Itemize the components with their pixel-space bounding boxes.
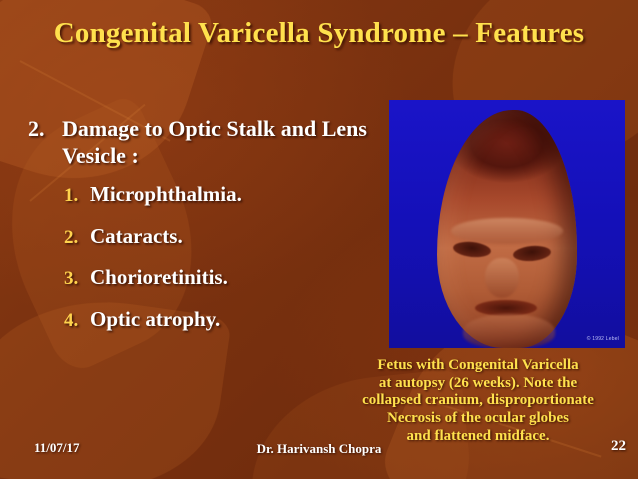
caption-line: Fetus with Congenital Varicella bbox=[325, 357, 631, 375]
caption-line: at autopsy (26 weeks). Note the bbox=[325, 375, 631, 393]
main-list-item-text: Damage to Optic Stalk and Lens Vesicle : bbox=[62, 116, 388, 170]
fetus-autopsy-photo: © 1992 Lebel bbox=[389, 100, 625, 348]
sub-list-item-number: 2. bbox=[64, 227, 90, 249]
presentation-slide: Congenital Varicella Syndrome – Features… bbox=[0, 0, 638, 479]
main-list-item-number: 2. bbox=[28, 116, 62, 143]
photo-nose-shape bbox=[485, 258, 519, 298]
slide-title: Congenital Varicella Syndrome – Features bbox=[18, 16, 620, 51]
sub-list-item-number: 3. bbox=[64, 268, 90, 290]
sub-list: 1. Microphthalmia. 2. Cataracts. 3. Chor… bbox=[64, 182, 388, 332]
sub-list-item-number: 1. bbox=[64, 185, 90, 207]
main-list-item: 2. Damage to Optic Stalk and Lens Vesicl… bbox=[28, 116, 388, 170]
sub-list-item: 4. Optic atrophy. bbox=[64, 307, 388, 332]
caption-line: Necrosis of the ocular globes bbox=[325, 410, 631, 428]
sub-list-item-text: Optic atrophy. bbox=[90, 307, 220, 331]
sub-list-item-text: Chorioretinitis. bbox=[90, 265, 228, 289]
sub-list-item-text: Microphthalmia. bbox=[90, 182, 242, 206]
slide-body: 2. Damage to Optic Stalk and Lens Vesicl… bbox=[28, 116, 388, 349]
sub-list-item: 3. Chorioretinitis. bbox=[64, 265, 388, 290]
caption-line: collapsed cranium, disproportionate bbox=[325, 392, 631, 410]
sub-list-item-number: 4. bbox=[64, 310, 90, 332]
photo-credit-text: © 1992 Lebel bbox=[587, 336, 619, 342]
photo-chin-shape bbox=[463, 314, 555, 348]
sub-list-item: 1. Microphthalmia. bbox=[64, 182, 388, 207]
sub-list-item-text: Cataracts. bbox=[90, 224, 183, 248]
footer-page-number: 22 bbox=[611, 438, 626, 455]
sub-list-item: 2. Cataracts. bbox=[64, 224, 388, 249]
footer-author: Dr. Harivansh Chopra bbox=[0, 441, 638, 457]
caption-line-text: at autopsy (26 weeks). Note the bbox=[379, 375, 577, 391]
image-caption: Fetus with Congenital Varicella at autop… bbox=[325, 357, 631, 445]
photo-brow-shape bbox=[451, 218, 563, 244]
